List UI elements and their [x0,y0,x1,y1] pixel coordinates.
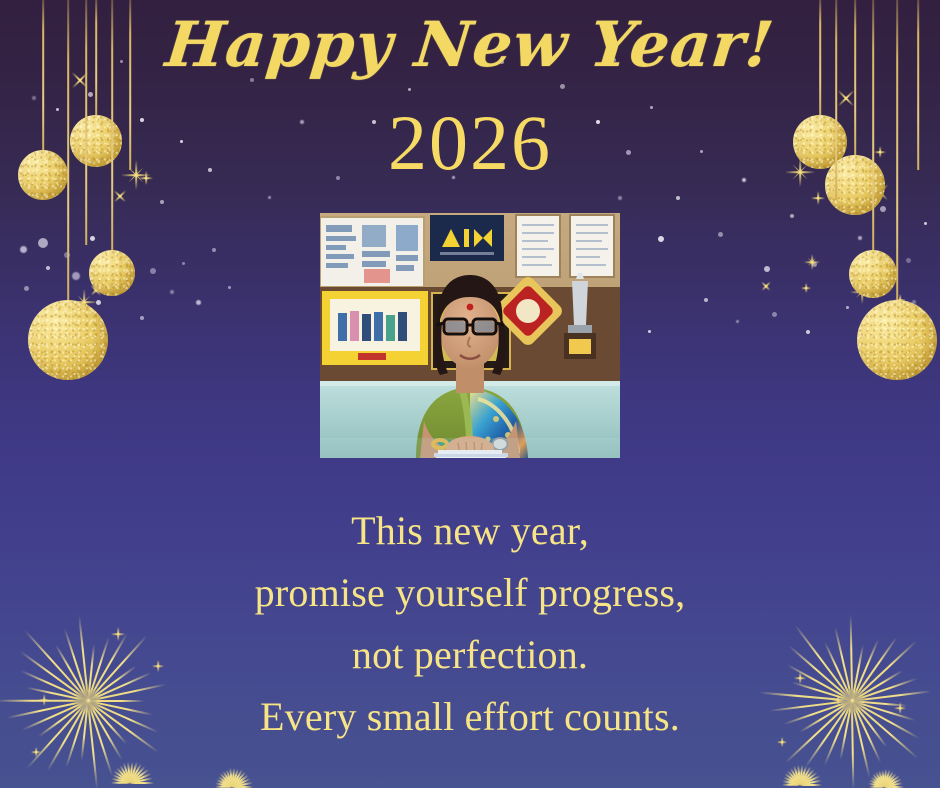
quote-line: promise yourself progress, [0,562,940,624]
sparkle-star-icon [89,283,103,297]
bokeh-dot [772,312,777,317]
bokeh-dot [858,236,862,240]
sparkle-star-icon [112,188,128,204]
new-year-greeting-card: Happy New Year! 2026 [0,0,940,788]
gold-bauble-icon [849,250,897,298]
bokeh-dot [658,236,664,242]
bokeh-dot [618,196,622,200]
sparkle-star-icon [894,294,906,306]
bokeh-dot [846,306,849,309]
bokeh-dot [46,190,49,193]
quote-line: not perfection. [0,624,940,686]
bokeh-dot [736,320,739,323]
bokeh-dot [150,268,156,274]
bokeh-dot [560,84,565,89]
bokeh-dot [790,214,794,218]
firework-burst-small-icon [768,752,832,788]
bokeh-dot [196,300,201,305]
sparkle-star-icon [119,257,129,267]
bokeh-dot [64,252,70,258]
quote-line: This new year, [0,500,940,562]
bokeh-dot [676,196,680,200]
sparkle-star-icon [869,181,891,203]
bokeh-dot [806,330,810,334]
bokeh-dot [32,96,36,100]
bokeh-dot [906,258,911,263]
bokeh-dot [704,298,708,302]
bokeh-dot [38,238,48,248]
sparkle-star-icon [108,250,124,266]
bokeh-dot [88,92,93,97]
bokeh-dot [72,272,80,280]
sparkle-star-icon [760,280,772,292]
bokeh-dot [880,206,886,212]
bokeh-dot [408,88,411,91]
bokeh-dot [108,258,112,262]
bokeh-dot [764,266,770,272]
portrait-photo [320,213,620,458]
bokeh-dot [60,306,63,309]
bokeh-dot [268,196,271,199]
bokeh-dot [90,236,95,241]
firework-burst-small-icon [96,748,164,788]
bokeh-dot [228,286,231,289]
gold-bauble-icon [89,250,135,296]
bokeh-dot [648,330,651,333]
page-title: Happy New Year! [0,14,940,76]
year-label: 2026 [0,104,940,182]
sparkle-star-icon [850,280,874,304]
sparkle-star-icon [31,747,41,757]
bokeh-dot [20,246,27,253]
bokeh-dot [880,334,885,339]
bokeh-dot [718,232,723,237]
gold-bauble-icon [28,300,108,380]
sparkle-star-icon [804,254,820,270]
portrait-photo-illustration [320,213,620,458]
firework-burst-small-icon [856,758,912,788]
bokeh-dot [140,316,144,320]
quote-text: This new year, promise yourself progress… [0,500,940,748]
firework-burst-small-icon [202,756,262,788]
bokeh-dot [126,276,129,279]
sparkle-star-icon [71,289,97,315]
bokeh-dot [46,266,50,270]
quote-line: Every small effort counts. [0,686,940,748]
bokeh-dot [912,300,916,304]
bokeh-dot [24,286,29,291]
bokeh-dot [812,262,817,267]
sparkle-star-icon [811,191,825,205]
bokeh-dot [170,290,174,294]
bokeh-dot [96,300,101,305]
bokeh-dot [212,248,216,252]
sparkle-star-icon [801,283,811,293]
bokeh-dot [182,262,185,265]
bokeh-dot [160,200,164,204]
gold-bauble-icon [857,300,937,380]
bokeh-dot [924,222,927,225]
